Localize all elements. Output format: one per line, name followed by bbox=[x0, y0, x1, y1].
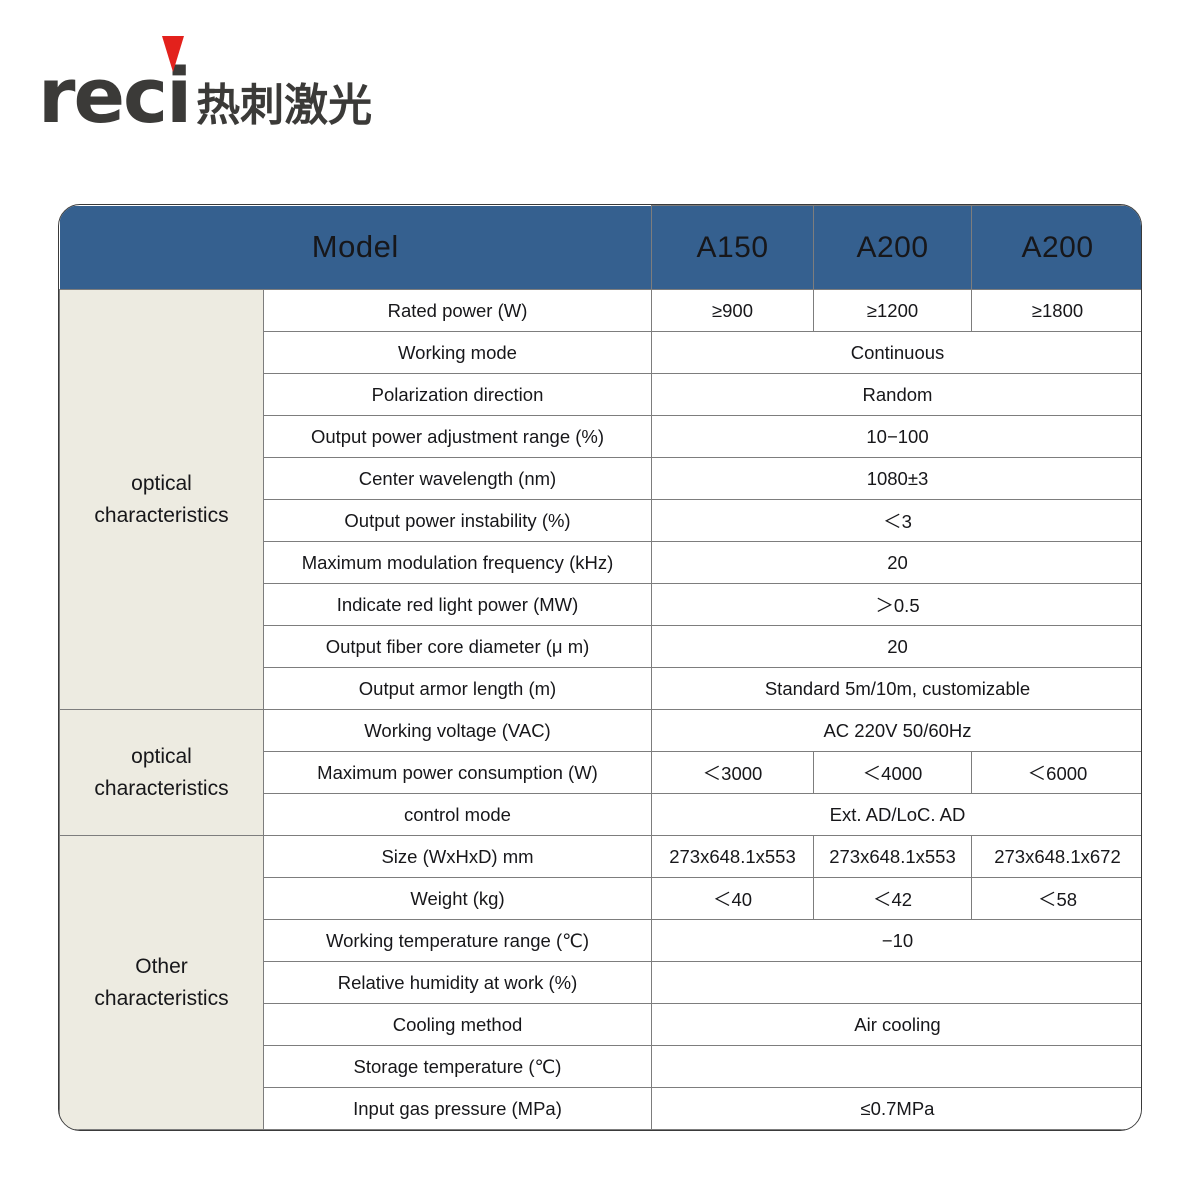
param-output-power-instability: Output power instability (%) bbox=[264, 500, 652, 542]
specification-table-container: Model A150 A200 A200 optical characteris… bbox=[58, 204, 1142, 1131]
value-indicate-red-light-power: ＞0.5 bbox=[652, 584, 1143, 626]
param-output-armor-length: Output armor length (m) bbox=[264, 668, 652, 710]
value-control-mode: Ext. AD/LoC. AD bbox=[652, 794, 1143, 836]
group-label-line1: Other bbox=[64, 951, 259, 983]
param-relative-humidity: Relative humidity at work (%) bbox=[264, 962, 652, 1004]
group-label-optical-1: optical characteristics bbox=[60, 290, 264, 710]
value-maximum-modulation-frequency: 20 bbox=[652, 542, 1143, 584]
value-rated-power-a150: ≥900 bbox=[652, 290, 814, 332]
value-size-a200-2: 273x648.1x672 bbox=[972, 836, 1143, 878]
value-output-power-adjustment-range: 10−100 bbox=[652, 416, 1143, 458]
param-working-mode: Working mode bbox=[264, 332, 652, 374]
table-row: Other characteristics Size (WxHxD) mm 27… bbox=[60, 836, 1143, 878]
group-label-line2: characteristics bbox=[64, 773, 259, 805]
param-storage-temperature: Storage temperature (℃) bbox=[264, 1046, 652, 1088]
value-weight-a150: ＜40 bbox=[652, 878, 814, 920]
table-header: Model A150 A200 A200 bbox=[60, 206, 1143, 290]
table-body: optical characteristics Rated power (W) … bbox=[60, 290, 1143, 1130]
param-weight: Weight (kg) bbox=[264, 878, 652, 920]
value-relative-humidity bbox=[652, 962, 1143, 1004]
value-working-voltage: AC 220V 50/60Hz bbox=[652, 710, 1143, 752]
value-working-mode: Continuous bbox=[652, 332, 1143, 374]
brand-logo: reci 热刺激光 bbox=[38, 42, 372, 132]
value-size-a200-1: 273x648.1x553 bbox=[814, 836, 972, 878]
param-indicate-red-light-power: Indicate red light power (MW) bbox=[264, 584, 652, 626]
param-working-temperature-range: Working temperature range (℃) bbox=[264, 920, 652, 962]
value-weight-a200-1: ＜42 bbox=[814, 878, 972, 920]
param-maximum-power-consumption: Maximum power consumption (W) bbox=[264, 752, 652, 794]
table-header-row: Model A150 A200 A200 bbox=[60, 206, 1143, 290]
value-center-wavelength: 1080±3 bbox=[652, 458, 1143, 500]
value-size-a150: 273x648.1x553 bbox=[652, 836, 814, 878]
value-polarization-direction: Random bbox=[652, 374, 1143, 416]
triangle-down-icon bbox=[162, 36, 184, 72]
value-rated-power-a200-1: ≥1200 bbox=[814, 290, 972, 332]
value-max-power-consumption-a150: ＜3000 bbox=[652, 752, 814, 794]
param-polarization-direction: Polarization direction bbox=[264, 374, 652, 416]
param-size: Size (WxHxD) mm bbox=[264, 836, 652, 878]
table-row: optical characteristics Working voltage … bbox=[60, 710, 1143, 752]
value-weight-a200-2: ＜58 bbox=[972, 878, 1143, 920]
column-header-a200-2: A200 bbox=[972, 206, 1143, 290]
value-max-power-consumption-a200-2: ＜6000 bbox=[972, 752, 1143, 794]
value-max-power-consumption-a200-1: ＜4000 bbox=[814, 752, 972, 794]
value-working-temperature-range: −10 bbox=[652, 920, 1143, 962]
value-rated-power-a200-2: ≥1800 bbox=[972, 290, 1143, 332]
param-working-voltage: Working voltage (VAC) bbox=[264, 710, 652, 752]
value-cooling-method: Air cooling bbox=[652, 1004, 1143, 1046]
specification-table: Model A150 A200 A200 optical characteris… bbox=[59, 205, 1142, 1130]
group-label-line1: optical bbox=[64, 741, 259, 773]
group-label-optical-2: optical characteristics bbox=[60, 710, 264, 836]
column-header-a200-1: A200 bbox=[814, 206, 972, 290]
group-label-line2: characteristics bbox=[64, 983, 259, 1015]
param-input-gas-pressure: Input gas pressure (MPa) bbox=[264, 1088, 652, 1130]
param-rated-power: Rated power (W) bbox=[264, 290, 652, 332]
column-header-a150: A150 bbox=[652, 206, 814, 290]
param-maximum-modulation-frequency: Maximum modulation frequency (kHz) bbox=[264, 542, 652, 584]
param-control-mode: control mode bbox=[264, 794, 652, 836]
brand-chinese-name: 热刺激光 bbox=[196, 84, 372, 128]
group-label-line1: optical bbox=[64, 468, 259, 500]
value-output-fiber-core-diameter: 20 bbox=[652, 626, 1143, 668]
group-label-line2: characteristics bbox=[64, 500, 259, 532]
param-cooling-method: Cooling method bbox=[264, 1004, 652, 1046]
group-label-other: Other characteristics bbox=[60, 836, 264, 1130]
column-header-model: Model bbox=[60, 206, 652, 290]
value-output-power-instability: ＜3 bbox=[652, 500, 1143, 542]
value-input-gas-pressure: ≤0.7MPa bbox=[652, 1088, 1143, 1130]
brand-wordmark: reci bbox=[38, 60, 190, 132]
param-output-power-adjustment-range: Output power adjustment range (%) bbox=[264, 416, 652, 458]
value-storage-temperature bbox=[652, 1046, 1143, 1088]
param-output-fiber-core-diameter: Output fiber core diameter (μ m) bbox=[264, 626, 652, 668]
table-row: optical characteristics Rated power (W) … bbox=[60, 290, 1143, 332]
param-center-wavelength: Center wavelength (nm) bbox=[264, 458, 652, 500]
value-output-armor-length: Standard 5m/10m, customizable bbox=[652, 668, 1143, 710]
